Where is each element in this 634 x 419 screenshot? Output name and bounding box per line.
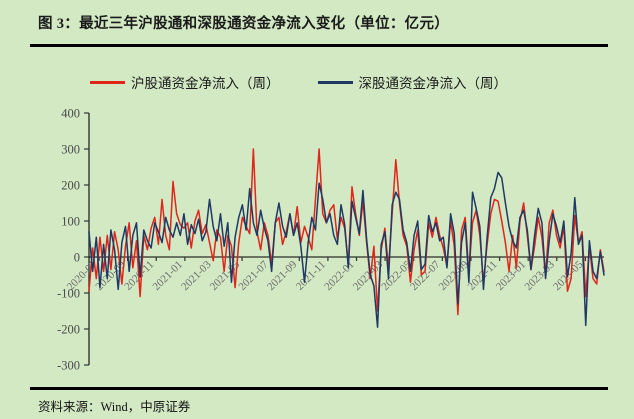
y-tick-label: 200	[61, 179, 80, 193]
y-tick-label: 100	[61, 215, 80, 229]
y-tick-label: -100	[57, 287, 80, 301]
y-tick-label: -200	[57, 323, 80, 337]
x-tick-label: 2022-11	[466, 259, 500, 293]
x-tick-label: 2021-11	[294, 259, 328, 293]
legend-item-shen[interactable]: 深股通资金净流入（周）	[318, 72, 508, 92]
series-line-hu	[89, 149, 604, 315]
figure-panel: 图 3：最近三年沪股通和深股通资金净流入变化（单位：亿元） 沪股通资金净流入（周…	[0, 0, 634, 419]
x-tick-label: 2021-05	[208, 258, 243, 293]
x-tick-label: 2022-07	[408, 258, 443, 293]
x-tick-label: 2021-09	[265, 258, 300, 293]
chart-legend: 沪股通资金净流入（周） 深股通资金净流入（周）	[90, 72, 507, 92]
legend-swatch-shen	[318, 81, 353, 84]
x-tick-label: 2021-03	[179, 258, 214, 293]
legend-item-hu[interactable]: 沪股通资金净流入（周）	[90, 72, 280, 92]
series-group	[89, 149, 604, 327]
x-tick-label: 2023-01	[494, 259, 528, 293]
legend-label-shen: 深股通资金净流入（周）	[359, 72, 508, 92]
x-tick-label: 2020-11	[122, 259, 156, 293]
x-tick-label: 2022-05	[379, 258, 414, 293]
series-line-shen	[89, 172, 604, 327]
legend-swatch-hu	[90, 81, 125, 84]
x-tick-label: 2021-01	[151, 259, 185, 293]
x-tick-label: 2020-09	[93, 258, 128, 293]
x-tick-label: 2023-05	[551, 258, 586, 293]
title-divider	[30, 44, 608, 47]
line-chart: 4003002001000-100-200-3002020-072020-092…	[0, 0, 634, 419]
x-tick-label: 2022-01	[322, 259, 356, 293]
x-tick-label: 2023-03	[522, 258, 557, 293]
x-tick-label: 2022-03	[351, 258, 386, 293]
x-tick-label: 2021-07	[236, 258, 271, 293]
chart-canvas: 4003002001000-100-200-3002020-072020-092…	[0, 0, 634, 419]
y-tick-label: 0	[74, 251, 80, 265]
source-note: 资料来源：Wind，中原证券	[38, 396, 190, 415]
y-tick-label: 400	[61, 107, 80, 121]
figure-title: 图 3：最近三年沪股通和深股通资金净流入变化（单位：亿元）	[38, 12, 449, 33]
x-tick-label: 2020-07	[65, 258, 100, 293]
y-tick-label: -300	[57, 359, 80, 373]
source-divider	[30, 387, 608, 390]
legend-label-hu: 沪股通资金净流入（周）	[131, 72, 280, 92]
y-tick-label: 300	[61, 143, 80, 157]
x-tick-label: 2022-09	[437, 258, 472, 293]
